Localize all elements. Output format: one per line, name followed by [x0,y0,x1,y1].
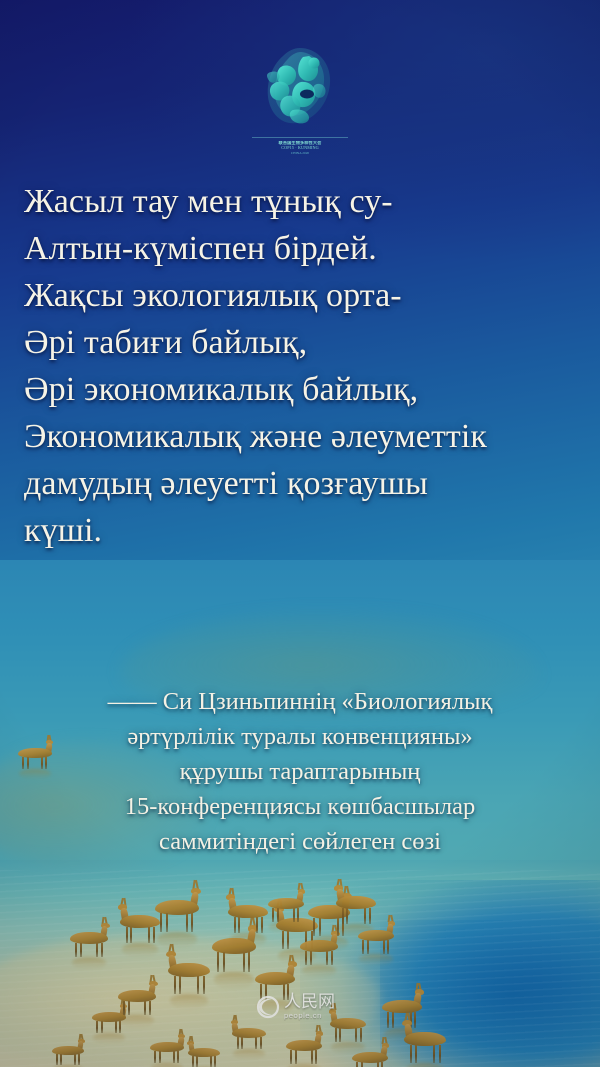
poem-line: Әрі экономикалық байлық, [24,366,584,413]
poem-text-block: Жасыл тау мен тұнық су- Алтын-күміспен б… [24,178,584,554]
poem-line: күші. [24,507,584,554]
poem-line: Жасыл тау мен тұнық су- [24,178,584,225]
attribution-line: құрушы тараптарының [20,754,580,789]
attribution-block: —— Си Цзиньпиннің «Биологиялық әртүрлілі… [20,684,580,859]
logo-divider-rule [252,137,348,138]
attribution-line: 15-конференциясы көшбасшылар [20,789,580,824]
poem-line: Алтын-күміспен бірдей. [24,225,584,272]
people-cn-wordmark: 人民网 people.cn [284,994,335,1020]
attribution-line: саммитіндегі сөйлеген сөзі [20,824,580,859]
people-cn-watermark: 人民网 people.cn [255,990,351,1024]
logo-caption-line-2: COP15 · KUNMING [248,146,352,151]
attribution-line: —— Си Цзиньпиннің «Биологиялық [20,684,580,719]
attribution-line: әртүрлілік туралы конвенцияны» [20,719,580,754]
cop15-logo-block: 联合国生物多样性大会 COP15 · KUNMING CHINA 2020 [0,44,600,156]
poem-line: Жақсы экологиялық орта- [24,272,584,319]
cop15-biodiversity-emblem-icon [257,44,343,130]
logo-caption-line-3: CHINA 2020 [248,152,352,156]
poster-canvas: 联合国生物多样性大会 COP15 · KUNMING CHINA 2020 Жа… [0,0,600,1067]
poem-line: Әрі табиғи байлық, [24,319,584,366]
water-ripple-texture [0,870,600,1067]
cop15-logo-caption: 联合国生物多样性大会 COP15 · KUNMING CHINA 2020 [248,141,352,156]
people-cn-domain-label: people.cn [284,1012,335,1020]
people-cn-swoosh-icon [255,994,281,1020]
poem-line: Экономикалық және әлеуметтік [24,413,584,460]
people-cn-chinese-label: 人民网 [284,994,335,1011]
poem-line: дамудың әлеуетті қозғаушы [24,460,584,507]
